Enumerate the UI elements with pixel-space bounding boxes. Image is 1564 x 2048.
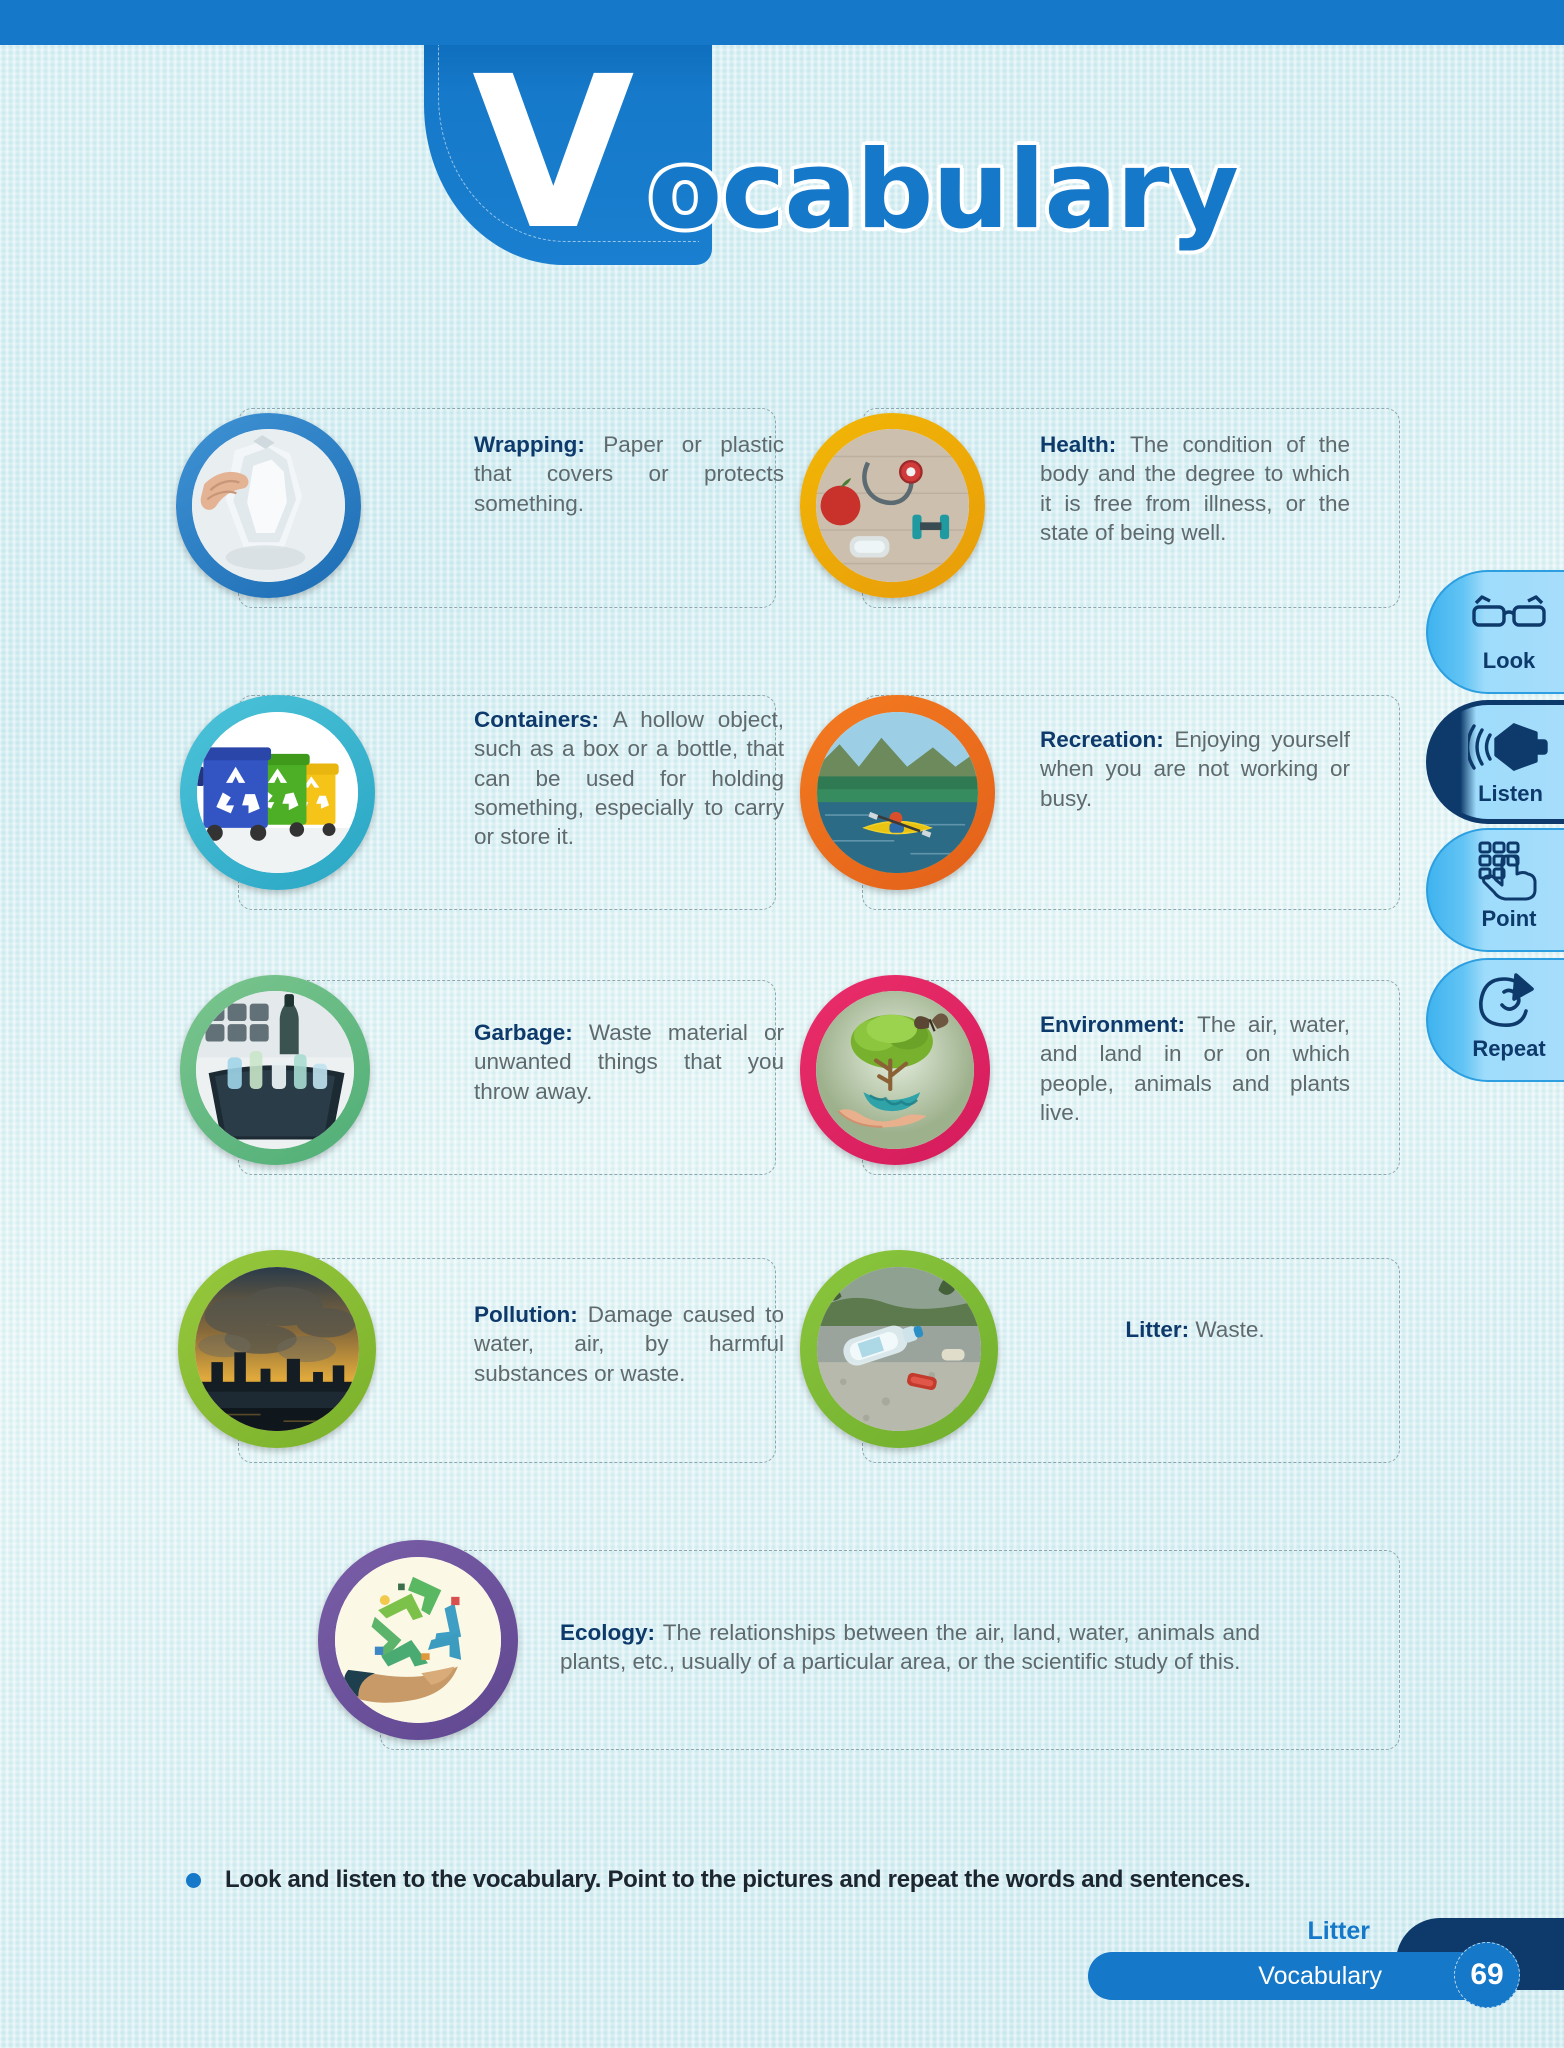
vocabulary-entry-health: Health: The condition of the body and th… — [1040, 430, 1350, 547]
vocabulary-image-litter[interactable] — [800, 1250, 998, 1448]
plastic-bottle-and-trash-on-roadside-illustration — [817, 1267, 981, 1431]
vocabulary-entry-wrapping: Wrapping: Paper or plastic that covers o… — [474, 430, 784, 518]
footer-bar: Vocabulary — [1088, 1952, 1508, 2000]
vocabulary-image-pollution[interactable] — [178, 1250, 376, 1448]
vocabulary-term: Recreation — [1040, 727, 1156, 752]
footer-unit-label: Litter — [1308, 1917, 1371, 1946]
apple-stethoscope-dumbbells-healthy-items-illustration — [816, 429, 969, 582]
vocabulary-entry-recreation: Recreation: Enjoying yourself when you a… — [1040, 725, 1350, 813]
pointing-hand-icon — [1428, 840, 1564, 904]
speaker-icon — [1431, 715, 1564, 779]
top-blue-bar — [0, 0, 1564, 45]
instruction-line: Look and listen to the vocabulary. Point… — [186, 1866, 1250, 1894]
vocabulary-term: Litter — [1125, 1317, 1181, 1342]
glasses-icon — [1428, 582, 1564, 646]
recycling-bin-with-bottles-and-cans-illustration — [196, 991, 354, 1149]
image-inner-frame — [817, 712, 978, 873]
vocabulary-term: Pollution — [474, 1302, 570, 1327]
vocabulary-entry-containers: Containers: A hollow object, such as a b… — [474, 705, 784, 851]
vocabulary-entry-garbage: Garbage: Waste material or unwanted thin… — [474, 1018, 784, 1106]
page-title: V ocabulary — [420, 55, 1180, 245]
vocabulary-entry-environment: Environment: The air, water, and land in… — [1040, 1010, 1350, 1127]
vocabulary-term: Wrapping — [474, 432, 577, 457]
kayaker-on-lake-with-forest-illustration — [817, 712, 978, 873]
term-colon: : — [1182, 1317, 1196, 1342]
vocabulary-image-environment[interactable] — [800, 975, 990, 1165]
term-colon: : — [565, 1020, 589, 1045]
page-root: V ocabulary Wrapping: Paper or plastic t… — [0, 0, 1564, 2048]
image-inner-frame — [817, 1267, 981, 1431]
title-initial-letter: V — [472, 49, 629, 259]
term-colon: : — [1178, 1012, 1198, 1037]
action-button-point[interactable]: Point — [1426, 828, 1564, 952]
vocabulary-term: Ecology — [560, 1620, 648, 1645]
page-number-badge: 69 — [1454, 1942, 1520, 2008]
repeat-arrow-icon — [1428, 970, 1564, 1034]
image-inner-frame — [196, 991, 354, 1149]
recycling-symbol-of-nature-held-in-hand-illustration — [335, 1557, 501, 1723]
image-inner-frame — [192, 429, 345, 582]
action-button-look[interactable]: Look — [1426, 570, 1564, 694]
vocabulary-definition: The relationships between the air, land,… — [560, 1620, 1260, 1674]
image-inner-frame — [816, 991, 974, 1149]
vocabulary-term: Health — [1040, 432, 1109, 457]
term-colon: : — [1156, 727, 1174, 752]
vocabulary-term: Containers — [474, 707, 592, 732]
term-colon: : — [570, 1302, 587, 1327]
vocabulary-term: Garbage — [474, 1020, 565, 1045]
action-button-label: Look — [1457, 648, 1536, 674]
factory-smokestacks-at-sunset-illustration — [195, 1267, 359, 1431]
footer-section-label: Vocabulary — [1258, 1962, 1382, 1991]
vocabulary-definition: Waste. — [1195, 1317, 1264, 1342]
image-inner-frame — [197, 712, 358, 873]
vocabulary-image-containers[interactable] — [180, 695, 375, 890]
action-button-repeat[interactable]: Repeat — [1426, 958, 1564, 1082]
instruction-text: Look and listen to the vocabulary. Point… — [225, 1866, 1250, 1894]
term-colon: : — [648, 1620, 663, 1645]
bullet-icon — [186, 1873, 201, 1888]
vocabulary-image-health[interactable] — [800, 413, 985, 598]
vocabulary-entry-litter: Litter: Waste. — [1040, 1315, 1350, 1344]
vocabulary-entry-ecology: Ecology: The relationships between the a… — [560, 1618, 1260, 1677]
action-button-label: Repeat — [1446, 1036, 1545, 1062]
term-colon: : — [577, 432, 603, 457]
hand-holding-plastic-wrapping-illustration — [192, 429, 345, 582]
tree-in-globe-held-by-hand-with-butterfly-illustration — [816, 991, 974, 1149]
vocabulary-image-ecology[interactable] — [318, 1540, 518, 1740]
image-inner-frame — [816, 429, 969, 582]
three-recycling-wheelie-bins-blue-green-yellow-illustration — [197, 712, 358, 873]
term-colon: : — [592, 707, 613, 732]
vocabulary-entry-pollution: Pollution: Damage caused to water, air, … — [474, 1300, 784, 1388]
action-button-listen[interactable]: Listen — [1426, 700, 1564, 824]
action-button-label: Point — [1456, 906, 1537, 932]
vocabulary-image-garbage[interactable] — [180, 975, 370, 1165]
vocabulary-term: Environment — [1040, 1012, 1178, 1037]
vocabulary-image-wrapping[interactable] — [176, 413, 361, 598]
term-colon: : — [1109, 432, 1130, 457]
title-remainder: ocabulary — [648, 137, 1238, 245]
vocabulary-image-recreation[interactable] — [800, 695, 995, 890]
image-inner-frame — [195, 1267, 359, 1431]
image-inner-frame — [335, 1557, 501, 1723]
action-button-label: Listen — [1452, 781, 1543, 807]
